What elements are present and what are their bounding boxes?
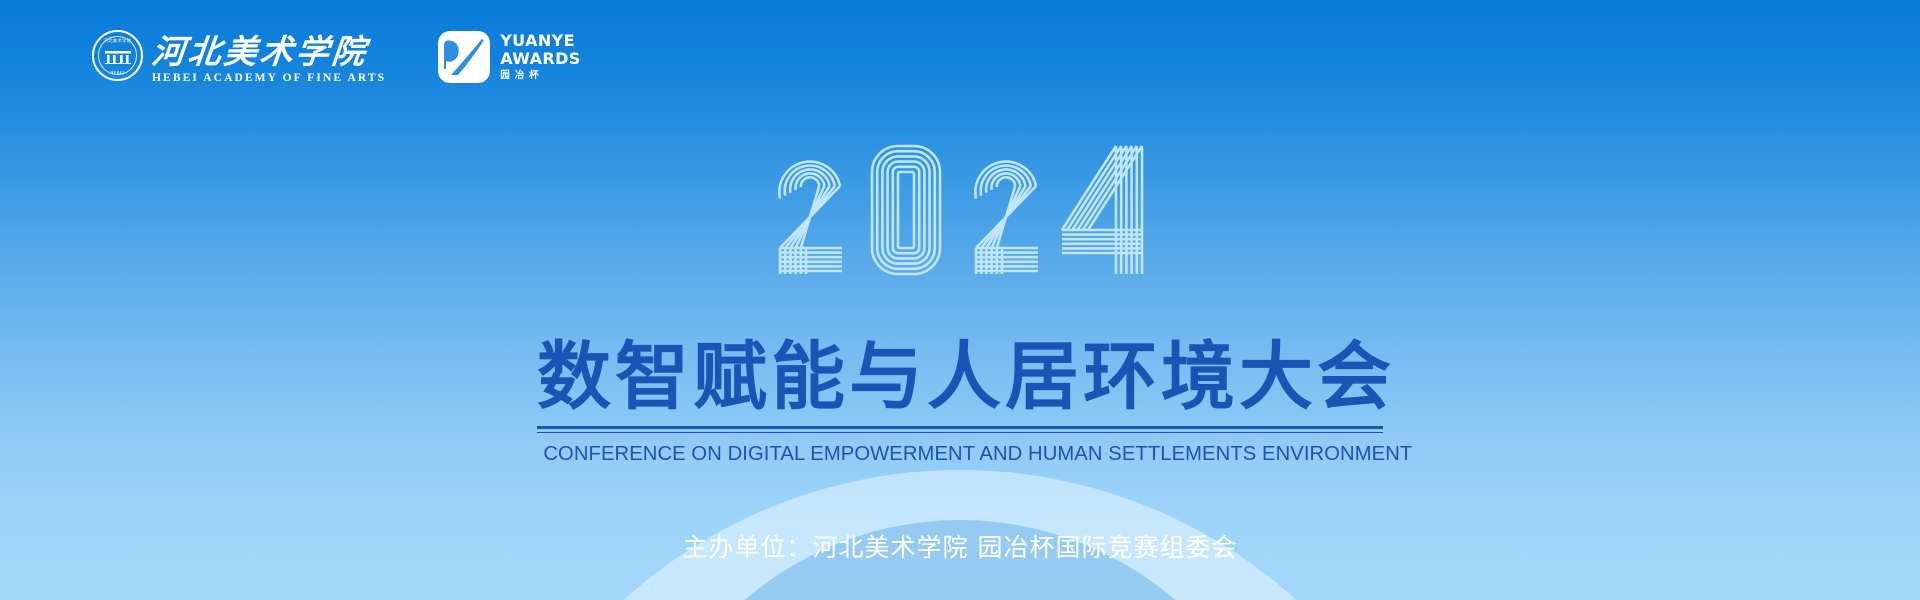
yuanye-mark-icon (438, 31, 490, 83)
hebei-wordmark: 河北美术学院 HEBEI ACADEMY OF FINE ARTS (152, 35, 386, 85)
yuanye-wordmark: YUANYE AWARDS 园冶杯 (500, 33, 581, 81)
conference-banner: 河北美术学院 HEBEI 河北美术学院 HEBEI ACADEMY OF FIN… (0, 0, 1920, 600)
yuanye-name-cn: 园冶杯 (500, 71, 581, 81)
conference-title-en: CONFERENCE ON DIGITAL EMPOWERMENT AND HU… (543, 442, 1376, 466)
seal-top-text: 河北美术学院 (94, 38, 141, 44)
divider-line-thin (537, 432, 1383, 434)
organizer-line: 主办单位：河北美术学院 园冶杯国际竞赛组委会 (683, 528, 1238, 564)
hebei-name-cn: 河北美术学院 (150, 35, 388, 68)
title-divider (537, 426, 1383, 433)
divider-line-thick (537, 426, 1383, 429)
logo-row: 河北美术学院 HEBEI 河北美术学院 HEBEI ACADEMY OF FIN… (92, 30, 581, 84)
title-block: 数智赋能与人居环境大会 CONFERENCE ON DIGITAL EMPOWE… (537, 340, 1383, 466)
yuanye-line2: AWARDS (500, 51, 581, 67)
conference-title-cn: 数智赋能与人居环境大会 (537, 340, 1383, 414)
hebei-seal-icon: 河北美术学院 HEBEI (92, 30, 143, 81)
yuanye-awards-logo: YUANYE AWARDS 园冶杯 (438, 31, 581, 83)
seal-bottom-text: HEBEI (94, 70, 141, 75)
seal-gate-icon (105, 51, 131, 64)
yuanye-line1: YUANYE (500, 33, 581, 49)
hebei-academy-logo: 河北美术学院 HEBEI 河北美术学院 HEBEI ACADEMY OF FIN… (92, 30, 386, 84)
year-2024-graphic (760, 138, 1160, 293)
hebei-name-en: HEBEI ACADEMY OF FINE ARTS (152, 73, 386, 85)
